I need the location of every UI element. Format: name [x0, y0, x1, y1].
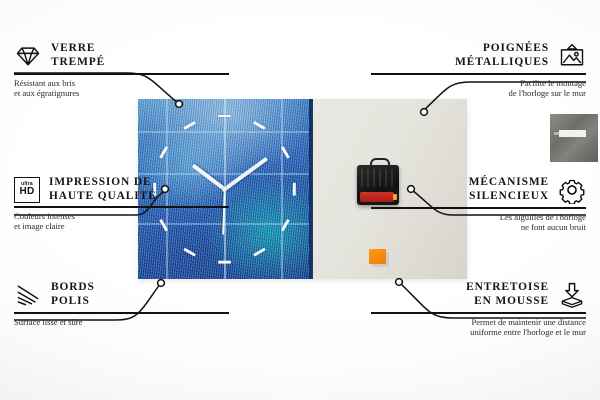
press-down-icon: [558, 281, 586, 309]
callout-title: BORDS POLIS: [51, 281, 95, 308]
callout-title: VERRE TREMPÉ: [51, 42, 105, 69]
metal-hanger-plate: [550, 114, 598, 162]
gear-icon: [558, 176, 586, 204]
infographic-canvas: VERRE TREMPÉ Résistant aux bris et aux é…: [0, 0, 600, 400]
callout-title: POIGNÉES MÉTALLIQUES: [455, 42, 549, 69]
callout-description: Surface lisse et sûre: [14, 317, 229, 328]
divider: [14, 206, 229, 208]
polished-edges-icon: [14, 281, 42, 309]
callout-title: ENTRETOISE EN MOUSSE: [466, 281, 549, 308]
diamond-icon: [14, 42, 42, 70]
divider: [371, 73, 586, 75]
clock-tick: [183, 121, 196, 130]
divider: [14, 312, 229, 314]
callout-description: Permet de maintenir une distance uniform…: [371, 317, 586, 338]
clock-tick: [160, 146, 169, 159]
divider: [14, 73, 229, 75]
callout-poignees-metalliques: POIGNÉES MÉTALLIQUES Facilite le montage…: [371, 42, 586, 99]
callout-mecanisme-silencieux: MÉCANISME SILENCIEUX Les aiguilles de l'…: [371, 176, 586, 233]
callout-title: MÉCANISME SILENCIEUX: [469, 176, 549, 203]
clock-tick: [293, 182, 296, 195]
clock-tick: [281, 219, 290, 232]
divider: [371, 207, 586, 209]
divider: [371, 312, 586, 314]
callout-impression-haute-qualite: ultra HD IMPRESSION DE HAUTE QUALITÉ Cou…: [14, 176, 229, 232]
callout-description: Facilite le montage de l'horloge sur le …: [371, 78, 586, 99]
ultra-hd-icon-bottom: HD: [19, 187, 34, 197]
callout-entretoise-en-mousse: ENTRETOISE EN MOUSSE Permet de maintenir…: [371, 281, 586, 338]
ultra-hd-icon: ultra HD: [14, 177, 40, 203]
callout-title: IMPRESSION DE HAUTE QUALITÉ: [49, 176, 157, 203]
clock-tick: [218, 261, 231, 264]
callout-verre-trempe: VERRE TREMPÉ Résistant aux bris et aux é…: [14, 42, 229, 99]
clock-tick: [253, 121, 266, 130]
callout-description: Couleurs intenses et image claire: [14, 211, 229, 232]
callout-description: Résistant aux bris et aux égratignures: [14, 78, 229, 99]
clock-tick: [218, 115, 231, 118]
callout-description: Les aiguilles de l'horloge ne font aucun…: [371, 212, 586, 233]
foam-spacer: [369, 249, 386, 264]
picture-frame-icon: [558, 42, 586, 70]
clock-tick: [253, 248, 266, 257]
clock-tick: [281, 146, 290, 159]
clock-hand-minute: [223, 157, 268, 191]
callout-bords-polis: BORDS POLIS Surface lisse et sûre: [14, 281, 229, 327]
clock-tick: [183, 248, 196, 257]
